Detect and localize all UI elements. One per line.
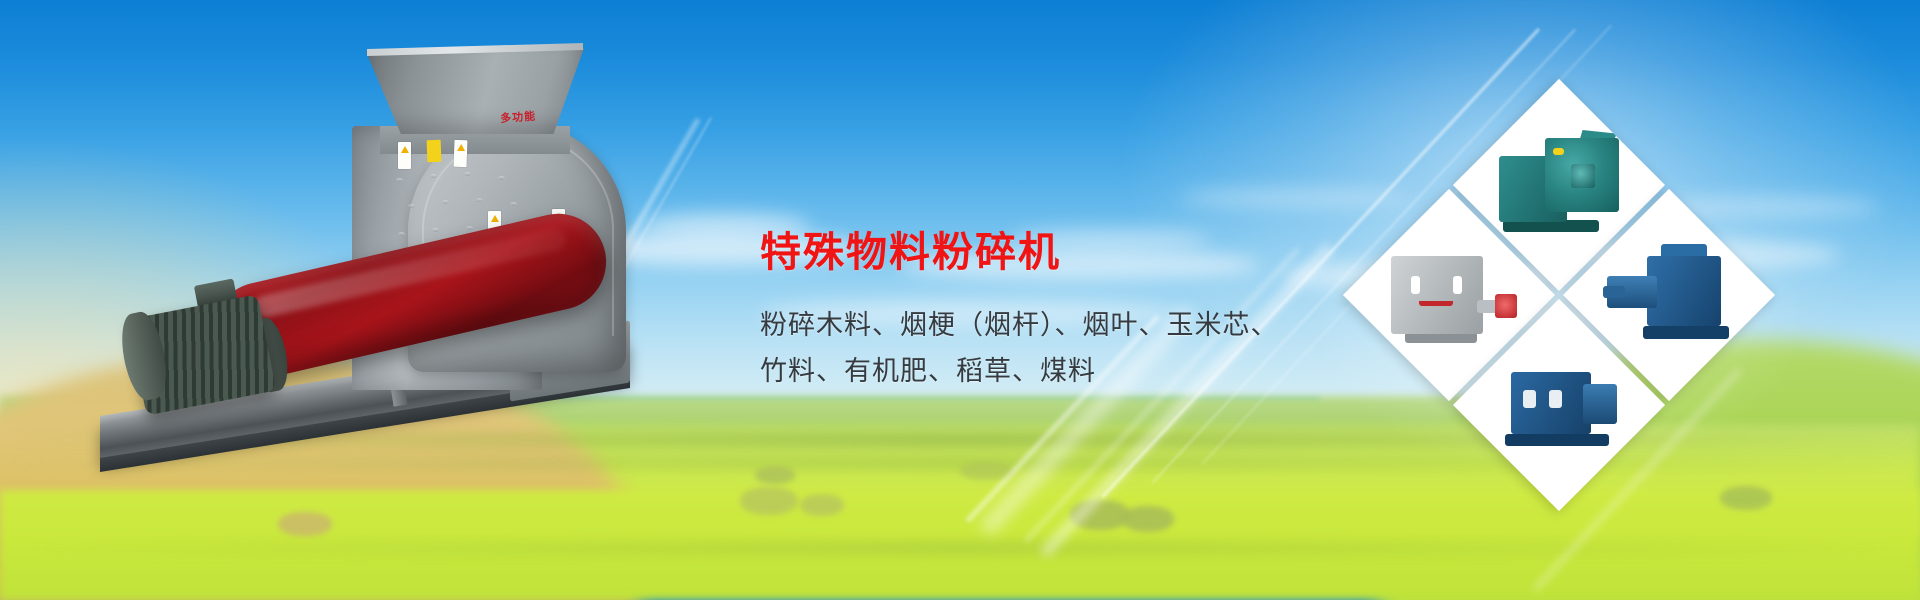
description-text: 粉碎木料、烟梗（烟杆）、烟叶、玉米芯、 竹料、有机肥、稻草、煤料 bbox=[760, 303, 1340, 396]
hay-bale bbox=[278, 512, 332, 536]
hay-bale bbox=[755, 466, 795, 484]
yellow-label bbox=[427, 140, 442, 162]
grass-line bbox=[0, 540, 1920, 556]
machine-hopper bbox=[366, 48, 584, 134]
hay-bale bbox=[800, 494, 844, 516]
promo-banner: 多功能 特殊物料粉碎机 粉碎木料、烟梗（烟杆）、烟叶、玉米芯、 竹料、有机肥、稻… bbox=[0, 0, 1920, 600]
warning-label-icon bbox=[398, 142, 411, 169]
description-line-1: 粉碎木料、烟梗（烟杆）、烟叶、玉米芯、 bbox=[760, 303, 1340, 349]
hay-bale bbox=[1122, 506, 1174, 532]
hay-bale bbox=[740, 487, 798, 515]
description-line-2: 竹料、有机肥、稻草、煤料 bbox=[760, 349, 1340, 395]
copy-block: 特殊物料粉碎机 粉碎木料、烟梗（烟杆）、烟叶、玉米芯、 竹料、有机肥、稻草、煤料 bbox=[760, 232, 1340, 396]
main-product-image: 多功能 bbox=[90, 30, 660, 470]
page-title: 特殊物料粉碎机 bbox=[760, 232, 1340, 273]
warning-label-icon bbox=[454, 140, 468, 167]
product-collage bbox=[1370, 100, 1750, 500]
